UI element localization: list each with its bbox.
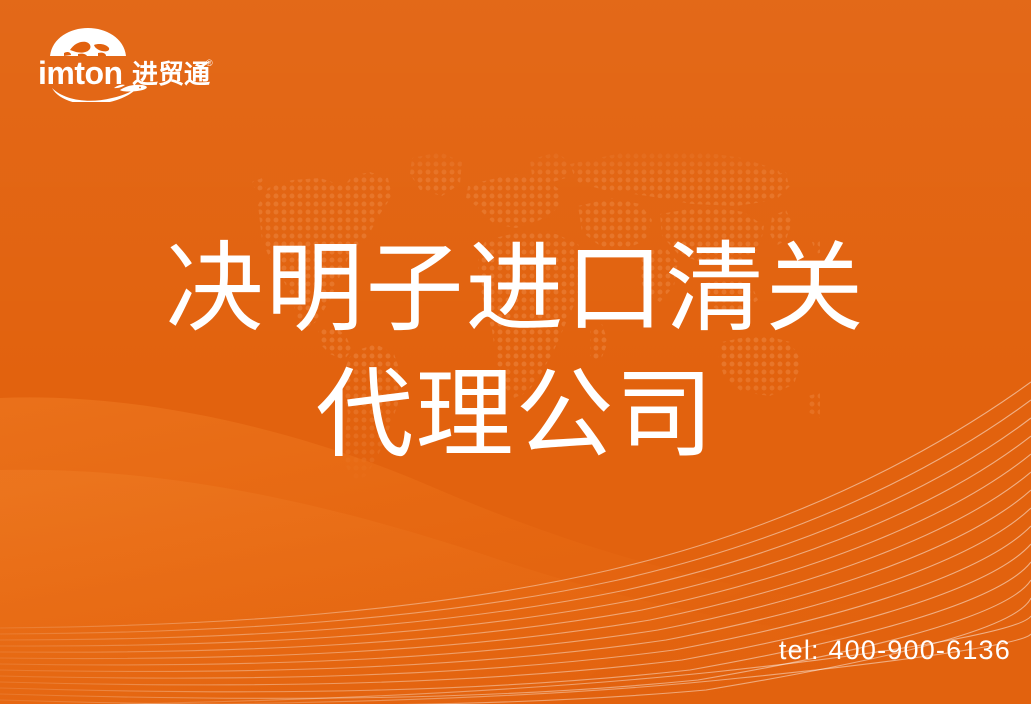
contact-phone[interactable]: tel: 400-900-6136 <box>779 635 1011 666</box>
wave-shadow <box>560 520 1031 704</box>
promo-banner: imton 进贸通 ® 决明子进口清关 代理公司 tel: 400-900-61… <box>0 0 1031 704</box>
page-title: 决明子进口清关 代理公司 <box>0 225 1031 477</box>
logo-chinese-name: 进贸通 <box>132 59 210 89</box>
headline-line-2: 代理公司 <box>0 351 1031 477</box>
logo-wordmark: imton <box>38 55 123 91</box>
globe-dome-icon <box>50 28 126 56</box>
trademark-icon: ® <box>206 58 213 68</box>
wave-secondary <box>0 470 1031 704</box>
imton-logo[interactable]: imton 进贸通 ® <box>36 26 216 102</box>
headline-line-1: 决明子进口清关 <box>0 225 1031 351</box>
